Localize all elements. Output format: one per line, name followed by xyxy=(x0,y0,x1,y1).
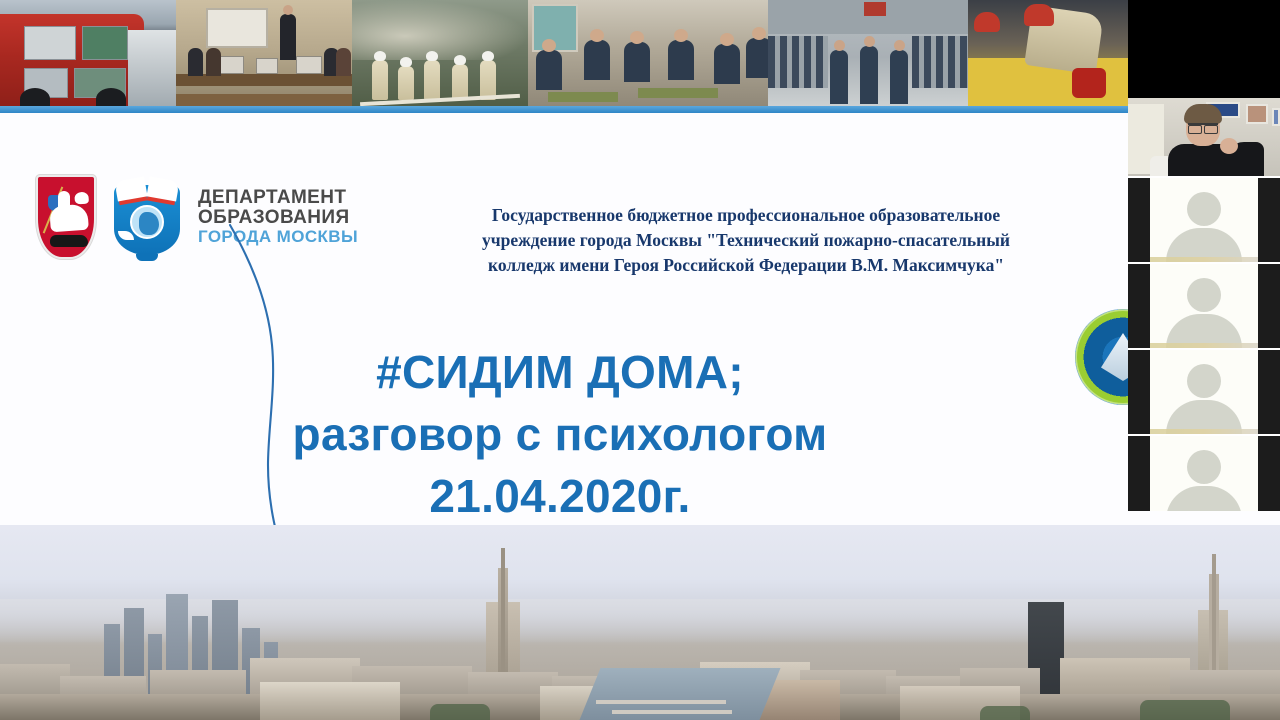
title-line-1: #СИДИМ ДОМА; xyxy=(0,341,1120,403)
banner-photo-cadets-classroom xyxy=(528,0,768,110)
video-participants-panel[interactable] xyxy=(1128,0,1280,511)
banner-photo-fire-truck xyxy=(0,0,176,110)
department-of-education-wordmark: ДЕПАРТАМЕНТ ОБРАЗОВАНИЯ ГОРОДА МОСКВЫ xyxy=(198,188,358,246)
presentation-slide: ДЕПАРТАМЕНТ ОБРАЗОВАНИЯ ГОРОДА МОСКВЫ Го… xyxy=(0,0,1280,720)
video-tile-webcam[interactable] xyxy=(1128,98,1280,176)
moscow-coat-of-arms-icon xyxy=(36,175,96,259)
institution-line-2: учреждение города Москвы "Технический по… xyxy=(410,228,1082,253)
banner-photo-electronics-classroom xyxy=(176,0,352,110)
department-line-1: ДЕПАРТАМЕНТ xyxy=(198,188,358,208)
institution-line-1: Государственное бюджетное профессиональн… xyxy=(410,203,1082,228)
video-tile-avatar[interactable] xyxy=(1128,436,1280,511)
photo-collage-banner xyxy=(0,0,1280,110)
banner-photo-firefighters-training xyxy=(352,0,528,110)
page-title: #СИДИМ ДОМА; разговор с психологом 21.04… xyxy=(0,341,1120,527)
video-tile-avatar[interactable] xyxy=(1128,178,1280,262)
banner-photo-parade-formation xyxy=(768,0,968,110)
banner-photo-rescue-extrication xyxy=(968,0,1148,110)
institution-line-3: колледж имени Героя Российской Федерации… xyxy=(410,253,1082,278)
department-line-2: ОБРАЗОВАНИЯ xyxy=(198,208,358,228)
slide-content-area: ДЕПАРТАМЕНТ ОБРАЗОВАНИЯ ГОРОДА МОСКВЫ Го… xyxy=(0,113,1280,525)
title-line-2: разговор с психологом xyxy=(0,403,1120,465)
title-line-3: 21.04.2020г. xyxy=(0,465,1120,527)
institution-name: Государственное бюджетное профессиональн… xyxy=(410,203,1082,278)
banner-divider-rule xyxy=(0,106,1280,113)
department-line-3: ГОРОДА МОСКВЫ xyxy=(198,228,358,246)
video-tile-avatar[interactable] xyxy=(1128,350,1280,434)
department-of-education-logo-icon xyxy=(110,175,184,259)
logo-row: ДЕПАРТАМЕНТ ОБРАЗОВАНИЯ ГОРОДА МОСКВЫ xyxy=(36,175,358,259)
video-tile-empty[interactable] xyxy=(1128,0,1280,98)
moscow-skyline-photo xyxy=(0,525,1280,720)
video-tile-avatar[interactable] xyxy=(1128,264,1280,348)
screen-share-view: ДЕПАРТАМЕНТ ОБРАЗОВАНИЯ ГОРОДА МОСКВЫ Го… xyxy=(0,0,1280,720)
